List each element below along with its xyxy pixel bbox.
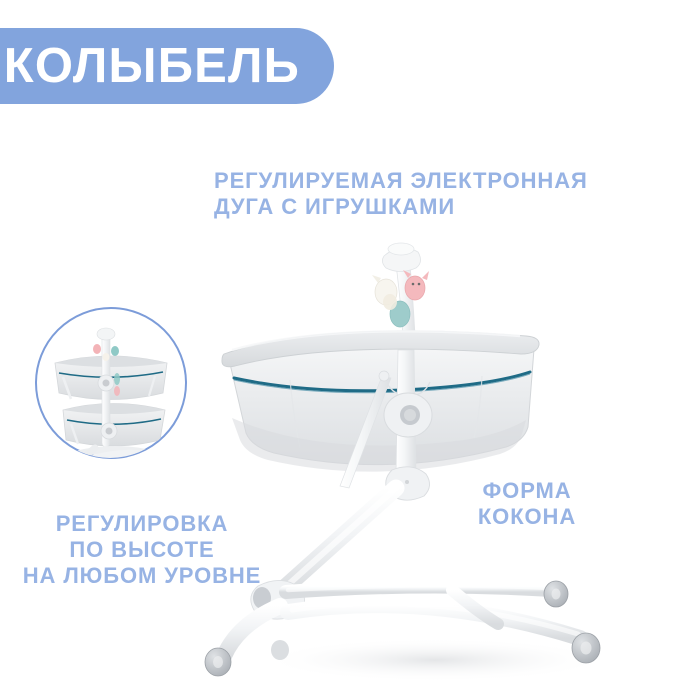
base-legs (224, 488, 580, 656)
caption-adjustable-toy-arch: РЕГУЛИРУЕМАЯ ЭЛЕКТРОННАЯ ДУГА С ИГРУШКАМ… (214, 168, 588, 220)
promo-stage: КОЛЫБЕЛЬ РЕГУЛИРУЕМАЯ ЭЛЕКТРОННАЯ ДУГА С… (0, 0, 700, 700)
page-title: КОЛЫБЕЛЬ (4, 42, 300, 91)
bassinet-cocoon (222, 331, 539, 488)
inset-circle-ring (35, 307, 187, 459)
header-banner: КОЛЫБЕЛЬ (0, 28, 334, 104)
product-image-bassinet (200, 230, 680, 690)
